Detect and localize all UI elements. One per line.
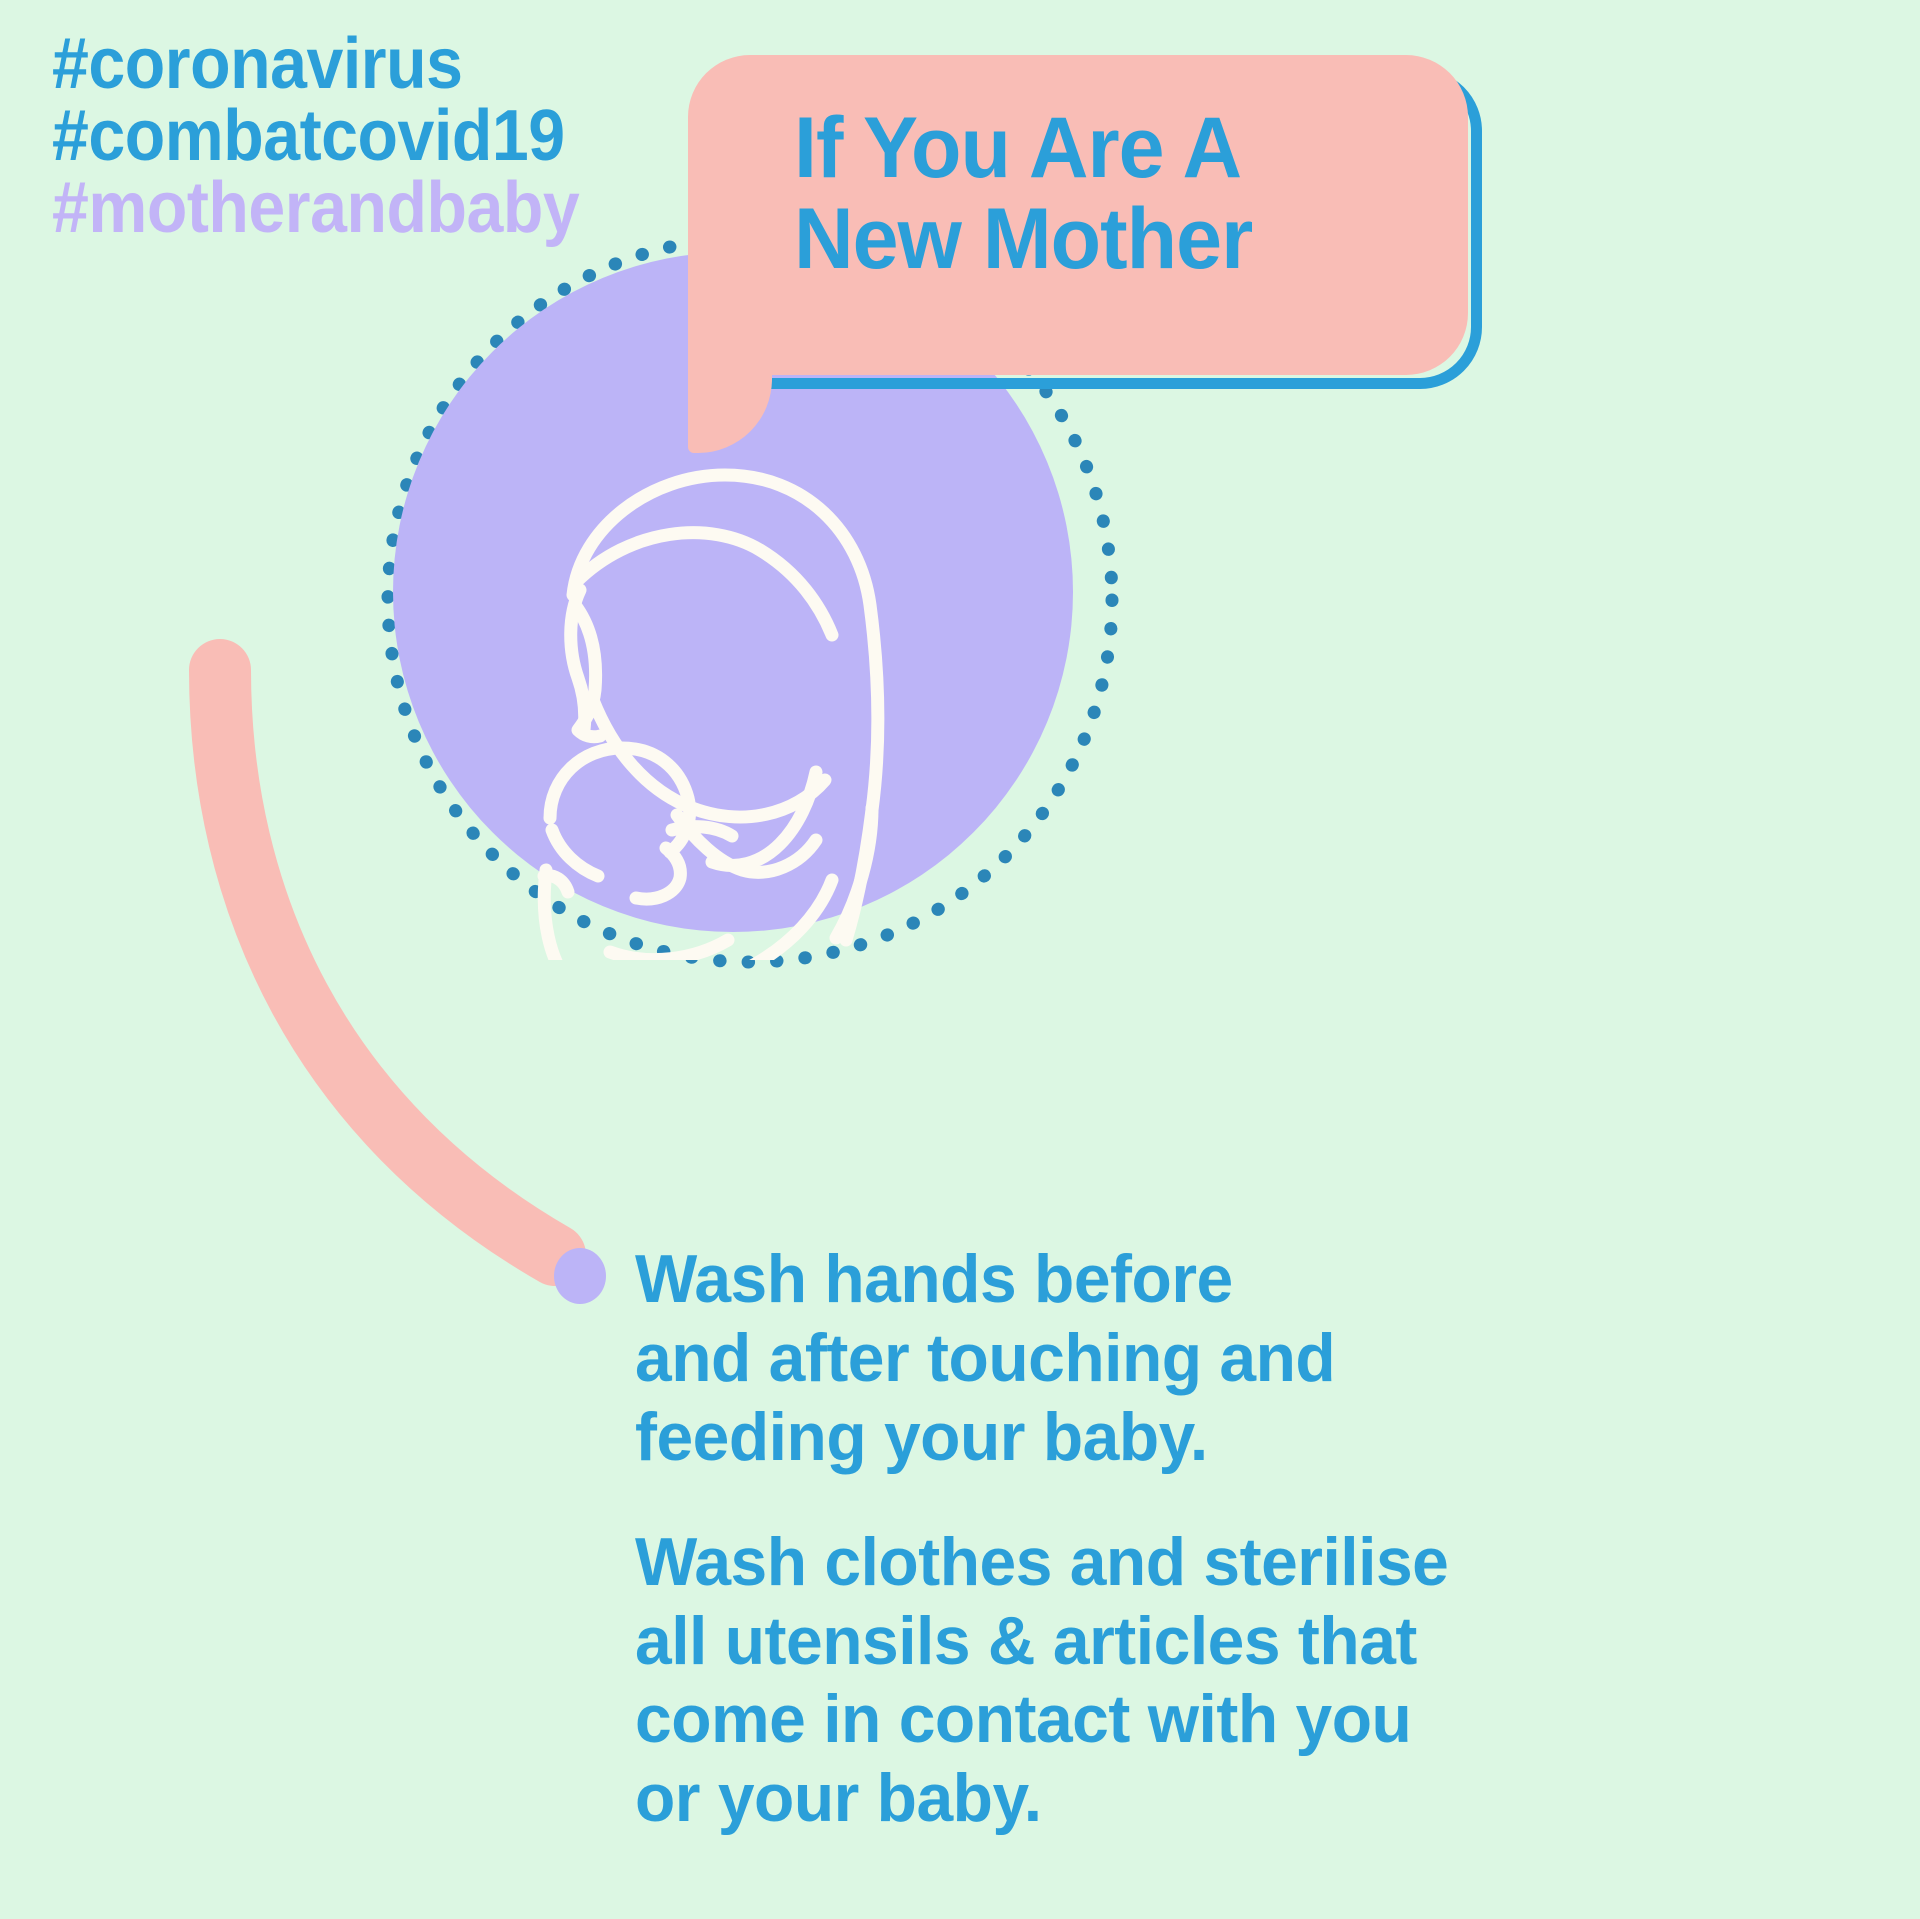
- tips-list: Wash hands before and after touching and…: [635, 1240, 1815, 1838]
- tip-item-2: Wash clothes and sterilise all utensils …: [635, 1523, 1780, 1839]
- poster-canvas: #coronavirus #combatcovid19 #motherandba…: [0, 0, 1920, 1919]
- hashtag-motherandbaby: #motherandbaby: [52, 172, 579, 244]
- hashtag-group: #coronavirus #combatcovid19 #motherandba…: [52, 28, 625, 244]
- page-title: If You Are A New Mother: [794, 103, 1466, 285]
- tip-item-1: Wash hands before and after touching and…: [635, 1240, 1780, 1477]
- speech-bubble-tail: [688, 373, 772, 453]
- hashtag-combatcovid19: #combatcovid19: [52, 100, 579, 172]
- hashtag-coronavirus: #coronavirus: [52, 28, 579, 100]
- speech-bubble: If You Are A New Mother: [688, 55, 1488, 455]
- tip-bullet-dot: [554, 1248, 606, 1304]
